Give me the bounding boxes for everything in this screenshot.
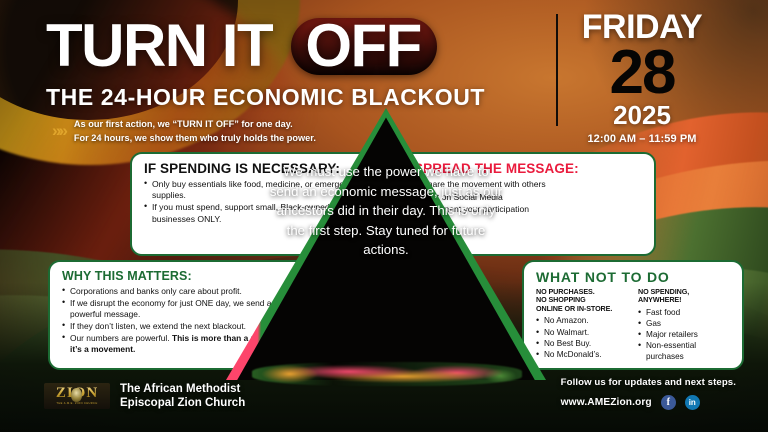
list-item: No Amazon.: [536, 316, 628, 327]
page-title-part1: TURN IT: [46, 12, 272, 79]
list-item: No McDonald’s.: [536, 350, 628, 361]
list-item: Gas: [638, 319, 730, 330]
footer-contact: Follow us for updates and next steps. ww…: [561, 377, 736, 410]
page-subtitle-bold: ECONOMIC BLACKOUT: [213, 84, 485, 110]
website-url[interactable]: www.AMEZion.org: [561, 397, 652, 408]
not-col1-list: No Amazon. No Walmart. No Best Buy. No M…: [536, 316, 628, 360]
tagline-line-2: For 24 hours, we show them who truly hol…: [74, 132, 316, 146]
follow-text: Follow us for updates and next steps.: [561, 377, 736, 388]
page-title-part2: OFF: [291, 18, 436, 75]
list-item: Major retailers: [638, 330, 730, 341]
why-last-plain: Our numbers are powerful.: [70, 333, 172, 343]
list-item: Non-essential purchases: [638, 341, 730, 362]
list-item: Fast food: [638, 308, 730, 319]
list-item: Our numbers are powerful. This is more t…: [62, 333, 294, 355]
page-subtitle-plain: THE 24-HOUR: [46, 84, 213, 110]
tagline-line-1: As our first action, we “TURN IT OFF” fo…: [74, 118, 316, 132]
header-divider: [556, 14, 558, 126]
page-subtitle: THE 24-HOUR ECONOMIC BLACKOUT: [46, 84, 485, 111]
headline-block: TURN IT OFF THE 24-HOUR ECONOMIC BLACKOU…: [46, 18, 485, 111]
list-item: No Best Buy.: [536, 339, 628, 350]
tagline-lines: As our first action, we “TURN IT OFF” fo…: [74, 118, 316, 146]
organization-name: The African Methodist Episcopal Zion Chu…: [120, 382, 245, 410]
not-col1-header: NO PURCHASES.NO SHOPPINGONLINE OR IN-STO…: [536, 288, 628, 314]
date-time-range: 12:00 AM – 11:59 PM: [562, 133, 722, 145]
date-day-number: 28: [562, 46, 722, 101]
card-why-this-matters: WHY THIS MATTERS: Corporations and banks…: [48, 260, 308, 370]
linkedin-icon[interactable]: in: [685, 395, 700, 410]
footer-branding: ZION THE A.M.E. ZION CHURCH The African …: [44, 382, 245, 410]
list-item: If they don’t listen, we extend the next…: [62, 321, 294, 332]
zion-logo-subtext: THE A.M.E. ZION CHURCH: [56, 402, 97, 406]
organization-name-line1: The African Methodist: [120, 382, 245, 396]
poster-canvas: TURN IT OFF THE 24-HOUR ECONOMIC BLACKOU…: [0, 0, 768, 432]
page-title: TURN IT OFF: [46, 18, 485, 75]
social-row: www.AMEZion.org f in: [561, 395, 736, 410]
list-item: Corporations and banks only care about p…: [62, 286, 294, 297]
card-why-list: Corporations and banks only care about p…: [62, 286, 294, 355]
facebook-icon[interactable]: f: [661, 395, 676, 410]
zion-logo: ZION THE A.M.E. ZION CHURCH: [44, 383, 110, 409]
zion-seal-icon: [71, 388, 82, 402]
double-chevron-right-icon: »»: [52, 122, 65, 139]
tagline-block: »» As our first action, we “TURN IT OFF”…: [52, 118, 316, 146]
not-to-do-column-1: NO PURCHASES.NO SHOPPINGONLINE OR IN-STO…: [536, 288, 628, 363]
card-not-heading: WHAT NOT TO DO: [536, 270, 730, 285]
date-year: 2025: [562, 102, 722, 128]
card-what-not-to-do: WHAT NOT TO DO NO PURCHASES.NO SHOPPINGO…: [522, 260, 744, 370]
not-col2-header: NO SPENDING,ANYWHERE!: [638, 288, 730, 305]
not-to-do-column-2: NO SPENDING,ANYWHERE! Fast food Gas Majo…: [638, 288, 730, 363]
organization-name-line2: Episcopal Zion Church: [120, 396, 245, 410]
card-why-heading: WHY THIS MATTERS:: [62, 270, 294, 283]
not-col2-list: Fast food Gas Major retailers Non-essent…: [638, 308, 730, 363]
list-item: If we disrupt the economy for just ONE d…: [62, 298, 294, 320]
date-block: FRIDAY 28 2025 12:00 AM – 11:59 PM: [562, 10, 722, 145]
list-item: No Walmart.: [536, 328, 628, 339]
pyramid-message: We must use the power we have to send an…: [268, 162, 504, 260]
